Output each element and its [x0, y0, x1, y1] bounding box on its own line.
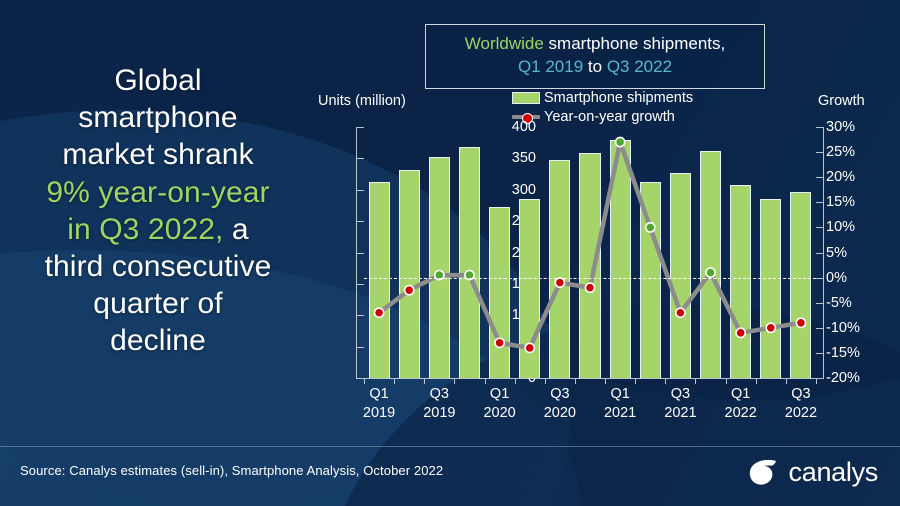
- right-axis-tick: [816, 127, 823, 128]
- growth-marker-q2-2022: [766, 323, 775, 332]
- legend-label-shipments: Smartphone shipments: [544, 90, 693, 106]
- x-axis-tick: [695, 378, 696, 384]
- x-axis-label: Q32019: [409, 385, 469, 422]
- legend-bar-swatch-icon: [512, 92, 540, 104]
- x-axis-tick: [635, 378, 636, 384]
- left-axis-tick: [357, 284, 364, 285]
- x-axis-tick: [605, 378, 606, 384]
- x-axis-label-year: 2020: [530, 404, 590, 423]
- right-axis-tick: [816, 278, 823, 279]
- growth-marker-q1-2020: [495, 338, 504, 347]
- x-axis-label: Q12020: [470, 385, 530, 422]
- x-axis-tick: [515, 378, 516, 384]
- canalys-logo: canalys: [746, 455, 878, 489]
- headline-line-8: decline: [110, 324, 206, 357]
- x-axis-label-quarter: Q1: [711, 385, 771, 404]
- legend-label-growth: Year-on-year growth: [544, 109, 675, 125]
- right-axis-tick-label: 15%: [826, 194, 882, 210]
- x-axis-label-quarter: Q1: [349, 385, 409, 404]
- growth-line-series: [364, 127, 816, 378]
- title-range-end: Q3 2022: [607, 57, 672, 76]
- headline-text: Global smartphone market shrank 9% year-…: [8, 62, 308, 360]
- headline-highlight-2: in Q3 2022,: [67, 213, 223, 246]
- right-axis-tick-label: 20%: [826, 169, 882, 185]
- right-axis-tick-label: -10%: [826, 320, 882, 336]
- right-axis-tick: [816, 353, 823, 354]
- left-axis-tick: [357, 315, 364, 316]
- x-axis-label: Q32021: [650, 385, 710, 422]
- x-axis-baseline: [356, 378, 824, 379]
- left-axis-tick: [357, 127, 364, 128]
- growth-marker-q1-2019: [374, 308, 383, 317]
- title-subject: smartphone shipments,: [544, 34, 725, 53]
- growth-marker-q1-2022: [736, 328, 745, 337]
- growth-marker-q4-2020: [585, 283, 594, 292]
- right-axis-tick: [816, 177, 823, 178]
- x-axis-label-year: 2021: [650, 404, 710, 423]
- right-axis-tick-label: 25%: [826, 144, 882, 160]
- growth-marker-q2-2019: [405, 286, 414, 295]
- canalys-wordmark: canalys: [789, 457, 878, 488]
- x-axis-label: Q12022: [711, 385, 771, 422]
- x-axis-label-quarter: Q1: [470, 385, 530, 404]
- right-axis-tick-label: 30%: [826, 119, 882, 135]
- x-axis-label: Q12021: [590, 385, 650, 422]
- x-axis-label-year: 2022: [711, 404, 771, 423]
- x-axis-tick: [364, 378, 365, 384]
- left-axis: [356, 127, 364, 378]
- growth-marker-q1-2021: [616, 137, 625, 146]
- legend-item-growth: Year-on-year growth: [512, 107, 693, 126]
- x-axis-label: Q32020: [530, 385, 590, 422]
- left-axis-title: Units (million): [318, 93, 406, 109]
- x-axis-tick: [454, 378, 455, 384]
- right-axis-tick: [816, 253, 823, 254]
- x-axis-label-year: 2022: [771, 404, 831, 423]
- growth-marker-q2-2020: [525, 343, 534, 352]
- right-axis-tick: [816, 227, 823, 228]
- x-axis-tick: [756, 378, 757, 384]
- right-axis-tick-label: 0%: [826, 270, 882, 286]
- headline-line-1: Global: [114, 64, 201, 97]
- x-axis-label-quarter: Q1: [590, 385, 650, 404]
- growth-marker-q4-2021: [706, 268, 715, 277]
- right-axis-tick: [816, 202, 823, 203]
- zero-percent-reference-line: [364, 278, 816, 279]
- growth-marker-q3-2020: [555, 278, 564, 287]
- x-axis-label-quarter: Q3: [650, 385, 710, 404]
- growth-marker-q3-2021: [676, 308, 685, 317]
- x-axis-tick: [545, 378, 546, 384]
- headline-highlight-1: 9% year-on-year: [46, 176, 269, 209]
- x-axis-tick: [424, 378, 425, 384]
- headline-line-2: smartphone: [78, 101, 237, 134]
- right-axis-tick-label: 5%: [826, 245, 882, 261]
- x-axis-tick: [726, 378, 727, 384]
- x-axis-label: Q12019: [349, 385, 409, 422]
- x-axis-tick: [394, 378, 395, 384]
- chart-legend: Smartphone shipments Year-on-year growth: [512, 88, 693, 126]
- headline-after-highlight: a: [223, 213, 248, 246]
- left-axis-tick: [357, 253, 364, 254]
- right-axis-tick-label: 10%: [826, 219, 882, 235]
- x-axis-label-year: 2021: [590, 404, 650, 423]
- x-axis-label-quarter: Q3: [771, 385, 831, 404]
- growth-marker-q3-2022: [796, 318, 805, 327]
- headline-line-3: market shrank: [62, 138, 253, 171]
- x-axis-tick: [816, 378, 817, 384]
- right-axis-tick: [816, 328, 823, 329]
- right-axis-tick: [816, 303, 823, 304]
- chart-title-box: Worldwide smartphone shipments, Q1 2019 …: [425, 24, 765, 89]
- left-axis-tick: [357, 158, 364, 159]
- slide-content: Global smartphone market shrank 9% year-…: [0, 0, 900, 506]
- legend-item-shipments: Smartphone shipments: [512, 88, 693, 107]
- left-axis-tick: [357, 221, 364, 222]
- plot-area: [364, 127, 816, 378]
- right-axis-tick-label: -15%: [826, 345, 882, 361]
- x-axis-label-quarter: Q3: [530, 385, 590, 404]
- footer-divider: [0, 446, 900, 447]
- x-axis-label: Q32022: [771, 385, 831, 422]
- growth-line-path: [379, 142, 801, 348]
- x-axis-tick: [575, 378, 576, 384]
- x-axis-label-year: 2019: [349, 404, 409, 423]
- x-axis-tick: [786, 378, 787, 384]
- right-axis: [816, 127, 824, 378]
- growth-marker-q2-2021: [646, 223, 655, 232]
- right-axis-tick: [816, 152, 823, 153]
- right-axis-tick-label: -5%: [826, 295, 882, 311]
- title-range-start: Q1 2019: [518, 57, 583, 76]
- source-note: Source: Canalys estimates (sell-in), Sma…: [20, 463, 443, 478]
- x-axis-label-year: 2020: [470, 404, 530, 423]
- canalys-swirl-icon: [746, 455, 780, 489]
- x-axis-label-year: 2019: [409, 404, 469, 423]
- headline-line-6: third consecutive: [45, 250, 272, 283]
- x-axis-tick: [485, 378, 486, 384]
- right-axis-tick-label: -20%: [826, 370, 882, 386]
- x-axis-tick: [665, 378, 666, 384]
- left-axis-tick: [357, 190, 364, 191]
- right-axis-title: Growth: [818, 93, 865, 109]
- left-axis-tick: [357, 347, 364, 348]
- headline-line-7: quarter of: [93, 287, 222, 320]
- title-worldwide: Worldwide: [465, 34, 544, 53]
- x-axis-label-quarter: Q3: [409, 385, 469, 404]
- title-range-sep: to: [583, 57, 607, 76]
